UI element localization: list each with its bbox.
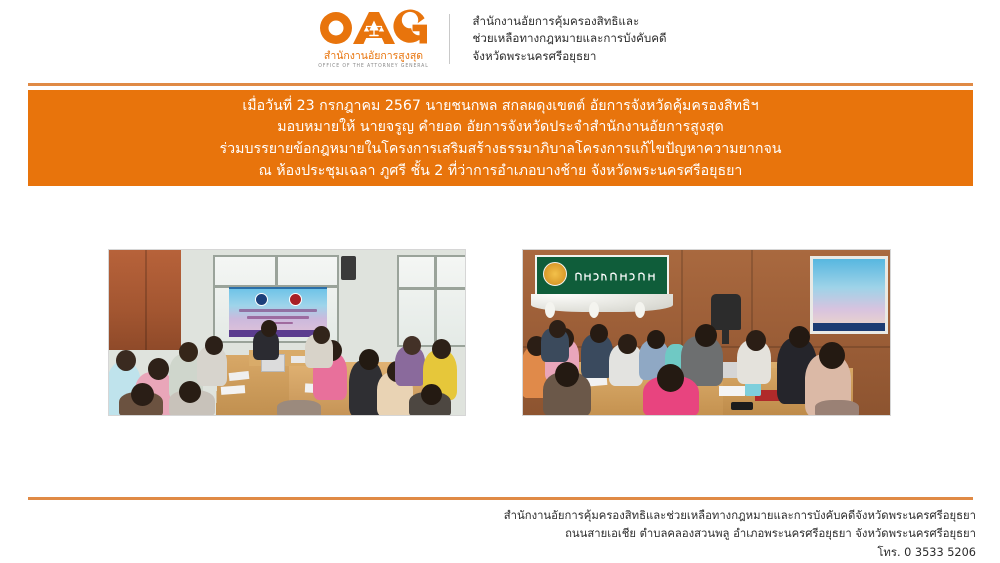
province-emblem-icon bbox=[543, 262, 567, 286]
projection-screen bbox=[810, 256, 888, 334]
wall-speaker bbox=[341, 256, 356, 280]
logo-thai-subtitle: สำนักงานอัยการสูงสุด bbox=[324, 51, 423, 63]
photo-gallery bbox=[0, 249, 1000, 417]
footer-divider bbox=[28, 497, 973, 500]
page-footer: สำนักงานอัยการคุ้มครองสิทธิและช่วยเหลือท… bbox=[36, 507, 976, 562]
logo-divider bbox=[449, 14, 450, 64]
organization-name-line-3: จังหวัดพระนครศรีอยุธยา bbox=[472, 49, 666, 65]
window-right bbox=[397, 255, 466, 347]
banner-line-1: เมื่อวันที่ 23 กรกฎาคม 2567 นายชนกพล สกล… bbox=[242, 96, 758, 118]
wood-panel bbox=[109, 250, 181, 350]
footer-line-3: โทร. 0 3533 5206 bbox=[36, 544, 976, 562]
event-backdrop-banner-blue bbox=[229, 287, 327, 337]
organization-name: สำนักงานอัยการคุ้มครองสิทธิและ ช่วยเหลือ… bbox=[472, 14, 666, 65]
page-header: สำนักงานอัยการสูงสุด OFFICE OF THE ATTOR… bbox=[0, 0, 1000, 78]
photo-meeting-room-right bbox=[522, 249, 891, 416]
logo-english-subtitle: OFFICE OF THE ATTORNEY GENERAL bbox=[318, 64, 428, 69]
oag-logo-lockup: สำนักงานอัยการสูงสุด OFFICE OF THE ATTOR… bbox=[317, 9, 666, 69]
banner-green-text bbox=[573, 268, 661, 280]
photo-right-scene bbox=[523, 250, 890, 415]
banner-line-4: ณ ห้องประชุมเฉลา ภูศรี ชั้น 2 ที่ว่าการอ… bbox=[259, 161, 743, 183]
footer-line-2: ถนนสายเอเชีย ตำบลคลองสวนพลู อำเภอพระนครศ… bbox=[36, 525, 976, 543]
organization-name-line-2: ช่วยเหลือทางกฎหมายและการบังคับคดี bbox=[472, 31, 666, 47]
organization-name-line-1: สำนักงานอัยการคุ้มครองสิทธิและ bbox=[472, 14, 666, 30]
banner-line-2: มอบหมายให้ นายจรูญ คำยอด อัยการจังหวัดปร… bbox=[277, 117, 723, 139]
photo-meeting-room-left bbox=[108, 249, 466, 416]
header-divider bbox=[28, 83, 973, 86]
office-chair bbox=[711, 294, 741, 330]
oag-logo-mark: สำนักงานอัยการสูงสุด OFFICE OF THE ATTOR… bbox=[317, 9, 439, 69]
oag-wordmark-icon bbox=[317, 9, 429, 50]
announcement-banner: เมื่อวันที่ 23 กรกฎาคม 2567 นายชนกพล สกล… bbox=[28, 90, 973, 186]
footer-line-1: สำนักงานอัยการคุ้มครองสิทธิและช่วยเหลือท… bbox=[36, 507, 976, 525]
banner-line-3: ร่วมบรรยายข้อกฎหมายในโครงการเสริมสร้างธร… bbox=[220, 139, 782, 161]
photo-left-scene bbox=[109, 250, 465, 415]
